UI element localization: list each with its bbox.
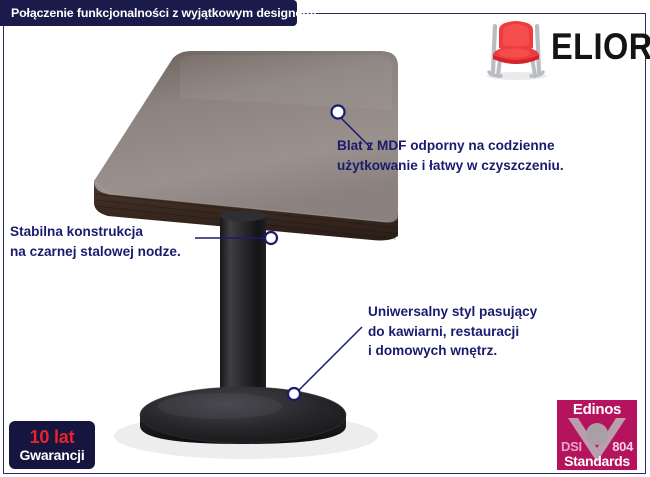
callout-column: Stabilna konstrukcja na czarnej stalowej…: [10, 222, 181, 261]
brand-name: ELIOR: [551, 28, 650, 65]
header-banner-text: Połączenie funkcjonalności z wyjątkowym …: [11, 6, 317, 20]
red-chair-icon: [481, 14, 551, 82]
callout-base-line-2: do kawiarni, restauracji: [368, 322, 537, 342]
certification-code-left: DSI: [561, 440, 582, 454]
callout-tabletop-line-2: użytkowanie i łatwy w czyszczeniu.: [337, 156, 564, 176]
certification-badge: Edinos DSI 804 Standards: [557, 400, 637, 470]
callout-tabletop-line-1: Blat z MDF odporny na codzienne: [337, 136, 564, 156]
infographic-canvas: Połączenie funkcjonalności z wyjątkowym …: [0, 0, 650, 477]
warranty-word: Gwarancji: [19, 447, 84, 463]
warranty-badge: 10 lat Gwarancji: [9, 421, 95, 469]
certification-code-right: 804: [612, 440, 633, 454]
certification-standards: Standards: [557, 453, 637, 469]
callout-base-line-1: Uniwersalny styl pasujący: [368, 302, 537, 322]
callout-column-line-1: Stabilna konstrukcja: [10, 222, 181, 242]
header-banner: Połączenie funkcjonalności z wyjątkowym …: [0, 0, 297, 26]
callout-base-line-3: i domowych wnętrz.: [368, 341, 537, 361]
certification-name: Edinos: [557, 402, 637, 418]
callout-base: Uniwersalny styl pasujący do kawiarni, r…: [368, 302, 537, 361]
warranty-years: 10 lat: [30, 428, 75, 447]
brand-logo: ELIOR: [481, 14, 643, 82]
callout-column-line-2: na czarnej stalowej nodze.: [10, 242, 181, 262]
callout-tabletop: Blat z MDF odporny na codzienne użytkowa…: [337, 136, 564, 175]
